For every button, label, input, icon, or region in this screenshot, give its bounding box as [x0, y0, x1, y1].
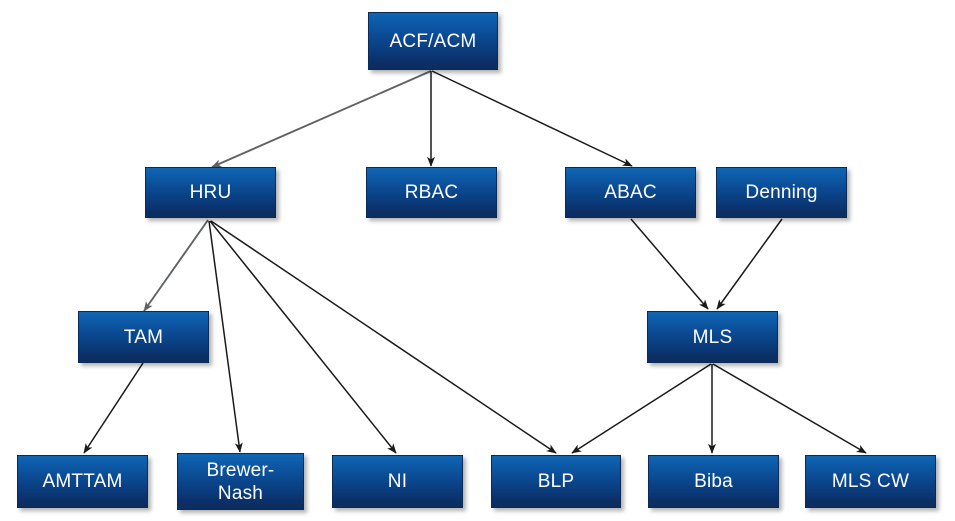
- node-amttam[interactable]: AMTTAM: [17, 455, 148, 508]
- node-abac[interactable]: ABAC: [565, 167, 696, 218]
- node-biba[interactable]: Biba: [648, 455, 779, 508]
- diagram-canvas: ACF/ACMHRURBACABACDenningTAMMLSAMTTAMBre…: [0, 0, 955, 521]
- node-label-biba: Biba: [649, 470, 778, 493]
- node-tam[interactable]: TAM: [78, 311, 209, 363]
- edge-hru-to-brewer-nash: [209, 221, 240, 452]
- node-acf-acm[interactable]: ACF/ACM: [368, 12, 498, 70]
- edge-tam-to-amttam: [84, 363, 143, 453]
- node-label-denning: Denning: [717, 181, 846, 204]
- edge-layer: [0, 0, 955, 521]
- node-brewer-nash[interactable]: Brewer- Nash: [177, 453, 304, 510]
- node-label-tam: TAM: [79, 326, 208, 349]
- edge-acf-acm-to-hru: [212, 71, 431, 167]
- node-label-ni: NI: [333, 470, 462, 493]
- node-rbac[interactable]: RBAC: [366, 167, 497, 218]
- edge-hru-to-tam: [144, 220, 208, 311]
- edge-mls-to-blp: [572, 364, 711, 453]
- node-label-brewer-nash: Brewer- Nash: [178, 459, 303, 505]
- edge-hru-to-ni: [210, 221, 396, 453]
- node-label-rbac: RBAC: [367, 181, 496, 204]
- node-label-mls-cw: MLS CW: [806, 470, 935, 493]
- edge-denning-to-mls: [717, 219, 782, 309]
- node-ni[interactable]: NI: [332, 455, 463, 508]
- node-mls[interactable]: MLS: [647, 311, 778, 363]
- node-label-amttam: AMTTAM: [18, 470, 147, 493]
- edge-mls-to-mls-cw: [713, 364, 866, 453]
- node-label-mls: MLS: [648, 326, 777, 349]
- node-label-hru: HRU: [146, 181, 275, 204]
- node-blp[interactable]: BLP: [491, 455, 621, 508]
- node-hru[interactable]: HRU: [145, 167, 276, 218]
- node-label-abac: ABAC: [566, 181, 695, 204]
- node-label-acf-acm: ACF/ACM: [369, 30, 497, 53]
- node-mls-cw[interactable]: MLS CW: [805, 455, 936, 508]
- edge-acf-acm-to-abac: [432, 71, 632, 166]
- edge-abac-to-mls: [631, 219, 708, 309]
- node-denning[interactable]: Denning: [716, 167, 847, 218]
- node-label-blp: BLP: [492, 470, 620, 493]
- edge-hru-to-blp: [211, 221, 556, 453]
